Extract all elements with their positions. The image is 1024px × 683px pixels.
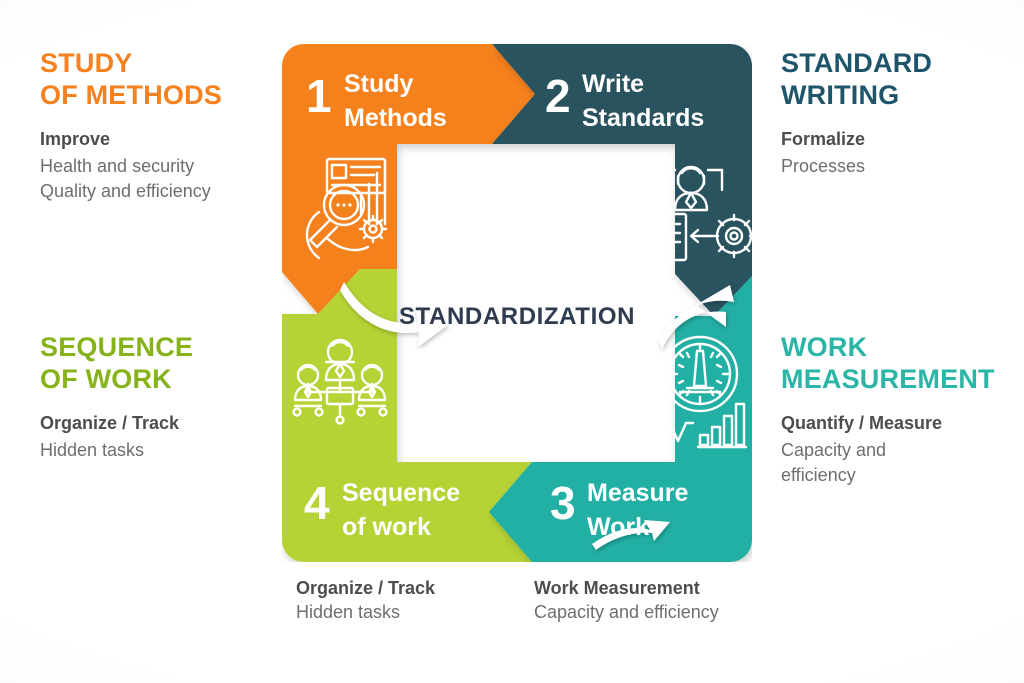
side-block-line: Capacity and [781,438,1024,463]
segment-3-number: 3 [550,477,576,529]
heading-line-1: STUDY [40,48,133,78]
caption-subtitle: Work Measurement [534,578,814,599]
segment-3-title-line-1: Measure [587,479,689,507]
standardization-cycle-diagram: STANDARDIZATION 1 Study Methods [282,44,752,562]
side-block-line: Health and security [40,154,290,179]
infographic-stage: STUDY OF METHODS Improve Health and secu… [0,0,1024,683]
heading-line-1: WORK [781,332,867,362]
side-block-line: Hidden tasks [40,438,290,463]
caption-subtitle: Organize / Track [296,578,526,599]
side-block-line: Processes [781,154,1024,179]
segment-2-title-line-1: Write [582,70,644,98]
segment-2-title-line-2: Standards [582,104,704,132]
heading-line-2: OF WORK [40,364,172,394]
caption-sequence-of-work: Organize / Track Hidden tasks [296,578,526,623]
heading-line-1: STANDARD [781,48,932,78]
caption-work-measurement: Work Measurement Capacity and efficiency [534,578,814,623]
side-block-heading-work-measurement: WORK MEASUREMENT [781,332,1024,396]
segment-1-number: 1 [306,70,332,122]
side-block-subtitle-organize-track: Organize / Track [40,412,290,435]
heading-line-2: MEASUREMENT [781,364,995,394]
side-block-line: Quality and efficiency [40,179,290,204]
caption-line: Hidden tasks [296,602,526,623]
side-block-subtitle-quantify-measure: Quantify / Measure [781,412,1024,435]
side-block-line: efficiency [781,463,1024,488]
caption-line: Capacity and efficiency [534,602,814,623]
heading-line-1: SEQUENCE [40,332,193,362]
segment-2-number: 2 [545,70,571,122]
center-label-standardization: STANDARDIZATION [399,303,635,330]
segment-1-title-line-1: Study [344,70,414,98]
side-block-heading-standard-writing: STANDARD WRITING [781,48,1024,112]
segment-4-title-line-1: Sequence [342,479,460,507]
side-block-subtitle-improve: Improve [40,128,290,151]
side-block-heading-study-of-methods: STUDY OF METHODS [40,48,290,112]
segment-1-title-line-2: Methods [344,104,447,132]
side-block-subtitle-formalize: Formalize [781,128,1024,151]
side-block-standard-writing: STANDARD WRITING Formalize Processes [781,48,1024,179]
heading-line-2: WRITING [781,80,899,110]
segment-3-title-line-2: Work [587,513,649,541]
side-block-heading-sequence-of-work: SEQUENCE OF WORK [40,332,290,396]
side-block-sequence-of-work: SEQUENCE OF WORK Organize / Track Hidden… [40,332,290,463]
segment-4-title-line-2: of work [342,513,431,541]
side-block-study-of-methods: STUDY OF METHODS Improve Health and secu… [40,48,290,204]
heading-line-2: OF METHODS [40,80,222,110]
segment-4-number: 4 [304,477,330,529]
side-block-work-measurement: WORK MEASUREMENT Quantify / Measure Capa… [781,332,1024,488]
